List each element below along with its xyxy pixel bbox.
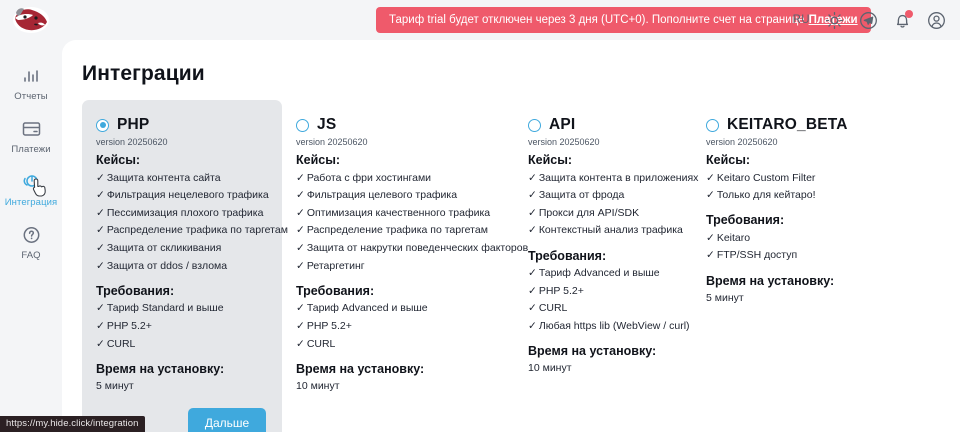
case-item: ✓Распределение трафика по таргетам xyxy=(96,224,268,237)
sidebar-item-payments[interactable]: Платежи xyxy=(0,109,62,162)
requirements-heading: Требования: xyxy=(296,284,500,298)
sidebar-item-label: Платежи xyxy=(11,144,50,155)
install-time-value: 10 минут xyxy=(296,380,500,392)
header-actions: RU xyxy=(793,0,946,40)
sidebar-item-label: Отчеты xyxy=(14,91,47,102)
check-icon: ✓ xyxy=(528,207,537,219)
requirement-item: ✓Любая https lib (WebView / curl) xyxy=(528,320,678,333)
check-icon: ✓ xyxy=(706,189,715,201)
requirement-item: ✓Тариф Advanced и выше xyxy=(296,302,500,315)
case-item: ✓Работа с фри хостингами xyxy=(296,172,500,185)
cases-heading: Кейсы: xyxy=(706,153,868,167)
raccoon-logo[interactable] xyxy=(11,4,51,36)
requirements-heading: Требования: xyxy=(706,213,868,227)
requirement-item: ✓CURL xyxy=(296,338,500,351)
check-icon: ✓ xyxy=(96,207,105,219)
check-icon: ✓ xyxy=(528,224,537,236)
check-icon: ✓ xyxy=(706,249,715,261)
integration-card-api[interactable]: API version 20250620 Кейсы: ✓Защита конт… xyxy=(514,100,692,432)
cases-heading: Кейсы: xyxy=(296,153,500,167)
check-icon: ✓ xyxy=(528,302,537,314)
sidebar-item-label: FAQ xyxy=(21,250,40,261)
check-icon: ✓ xyxy=(296,242,305,254)
question-circle-icon xyxy=(21,224,42,246)
next-button[interactable]: Дальше xyxy=(188,408,266,432)
check-icon: ✓ xyxy=(528,172,537,184)
case-item: ✓Контекстный анализ трафика xyxy=(528,224,678,237)
sidebar-item-label: Интеграция xyxy=(5,197,58,208)
bar-chart-icon xyxy=(21,65,41,87)
case-item: ✓Ретаргетинг xyxy=(296,260,500,273)
requirement-item: ✓CURL xyxy=(96,338,268,351)
check-icon: ✓ xyxy=(96,224,105,236)
content-panel: Интеграции PHP version 20250620 Кейсы: ✓… xyxy=(62,40,960,432)
notification-badge xyxy=(905,10,913,18)
sidebar-nav: Отчеты Платежи xyxy=(0,56,62,268)
check-icon: ✓ xyxy=(706,232,715,244)
requirement-item: ✓Тариф Advanced и выше xyxy=(528,267,678,280)
sidebar: Отчеты Платежи xyxy=(0,0,62,432)
sidebar-item-reports[interactable]: Отчеты xyxy=(0,56,62,109)
header-bar: Тариф trial будет отключен через 3 дня (… xyxy=(62,0,960,40)
case-item: ✓Оптимизация качественного трафика xyxy=(296,207,500,220)
status-bar-url: https://my.hide.click/integration xyxy=(0,416,145,432)
check-icon: ✓ xyxy=(528,267,537,279)
card-title: KEITARO_BETA xyxy=(727,116,848,134)
integration-card-js[interactable]: JS version 20250620 Кейсы: ✓Работа с фри… xyxy=(282,100,514,432)
card-title: PHP xyxy=(117,116,149,134)
case-item: ✓Защита от накрутки поведенческих фактор… xyxy=(296,242,500,255)
check-icon: ✓ xyxy=(528,320,537,332)
bell-icon[interactable] xyxy=(893,11,912,30)
app-root: Отчеты Платежи xyxy=(0,0,960,432)
install-time-heading: Время на установку: xyxy=(706,274,868,288)
telegram-icon[interactable] xyxy=(859,11,878,30)
check-icon: ✓ xyxy=(528,285,537,297)
radio-keitaro-beta[interactable] xyxy=(706,119,719,132)
card-header: KEITARO_BETA xyxy=(706,116,868,134)
cases-heading: Кейсы: xyxy=(96,153,268,167)
check-icon: ✓ xyxy=(296,320,305,332)
card-version: version 20250620 xyxy=(96,137,268,147)
page-title: Интеграции xyxy=(82,62,960,86)
case-item: ✓Пессимизация плохого трафика xyxy=(96,207,268,220)
case-item: ✓Защита от скликивания xyxy=(96,242,268,255)
check-icon: ✓ xyxy=(96,320,105,332)
install-time-value: 5 минут xyxy=(706,292,868,304)
requirement-item: ✓CURL xyxy=(528,302,678,315)
integration-card-php[interactable]: PHP version 20250620 Кейсы: ✓Защита конт… xyxy=(82,100,282,432)
radio-php[interactable] xyxy=(96,119,109,132)
requirement-item: ✓Keitaro xyxy=(706,232,868,245)
case-item: ✓Только для кейтаро! xyxy=(706,189,868,202)
sidebar-item-faq[interactable]: FAQ xyxy=(0,215,62,268)
install-time-value: 5 минут xyxy=(96,380,268,392)
check-icon: ✓ xyxy=(96,302,105,314)
credit-card-icon xyxy=(21,118,42,140)
case-item: ✓Защита контента в приложениях xyxy=(528,172,678,185)
radio-js[interactable] xyxy=(296,119,309,132)
cases-heading: Кейсы: xyxy=(528,153,678,167)
requirement-item: ✓PHP 5.2+ xyxy=(96,320,268,333)
install-time-heading: Время на установку: xyxy=(96,362,268,376)
check-icon: ✓ xyxy=(96,338,105,350)
sun-icon[interactable] xyxy=(825,11,844,30)
card-header: JS xyxy=(296,116,500,134)
language-switcher[interactable]: RU xyxy=(793,14,810,26)
check-icon: ✓ xyxy=(296,189,305,201)
case-item: ✓Прокси для API/SDK xyxy=(528,207,678,220)
check-icon: ✓ xyxy=(96,189,105,201)
case-item: ✓Защита от ddos / взлома xyxy=(96,260,268,273)
case-item: ✓Keitaro Custom Filter xyxy=(706,172,868,185)
card-version: version 20250620 xyxy=(296,137,500,147)
check-icon: ✓ xyxy=(296,302,305,314)
case-item: ✓Защита от фрода xyxy=(528,189,678,202)
requirements-heading: Требования: xyxy=(96,284,268,298)
check-icon: ✓ xyxy=(296,224,305,236)
alert-text: Тариф trial будет отключен через 3 дня (… xyxy=(389,14,805,26)
card-title: JS xyxy=(317,116,336,134)
check-icon: ✓ xyxy=(296,172,305,184)
check-icon: ✓ xyxy=(296,260,305,272)
sidebar-item-integration[interactable]: Интеграция xyxy=(0,162,62,215)
mouse-cursor-icon xyxy=(32,178,48,197)
requirement-item: ✓FTP/SSH доступ xyxy=(706,249,868,262)
install-time-heading: Время на установку: xyxy=(296,362,500,376)
check-icon: ✓ xyxy=(96,172,105,184)
card-version: version 20250620 xyxy=(706,137,868,147)
install-time-value: 10 минут xyxy=(528,362,678,374)
card-header: PHP xyxy=(96,116,268,134)
card-header: API xyxy=(528,116,678,134)
requirement-item: ✓PHP 5.2+ xyxy=(296,320,500,333)
check-icon: ✓ xyxy=(96,260,105,272)
check-icon: ✓ xyxy=(96,242,105,254)
requirement-item: ✓PHP 5.2+ xyxy=(528,285,678,298)
card-title: API xyxy=(549,116,575,134)
requirement-item: ✓Тариф Standard и выше xyxy=(96,302,268,315)
case-item: ✓Фильтрация целевого трафика xyxy=(296,189,500,202)
case-item: ✓Защита контента сайта xyxy=(96,172,268,185)
case-item: ✓Распределение трафика по таргетам xyxy=(296,224,500,237)
check-icon: ✓ xyxy=(296,207,305,219)
check-icon: ✓ xyxy=(528,189,537,201)
integration-cards: PHP version 20250620 Кейсы: ✓Защита конт… xyxy=(62,100,960,432)
integration-card-keitaro-beta[interactable]: KEITARO_BETA version 20250620 Кейсы: ✓Ke… xyxy=(692,100,882,432)
check-icon: ✓ xyxy=(706,172,715,184)
check-icon: ✓ xyxy=(296,338,305,350)
case-item: ✓Фильтрация нецелевого трафика xyxy=(96,189,268,202)
requirements-heading: Требования: xyxy=(528,249,678,263)
card-version: version 20250620 xyxy=(528,137,678,147)
install-time-heading: Время на установку: xyxy=(528,344,678,358)
radio-api[interactable] xyxy=(528,119,541,132)
user-avatar-icon[interactable] xyxy=(927,11,946,30)
